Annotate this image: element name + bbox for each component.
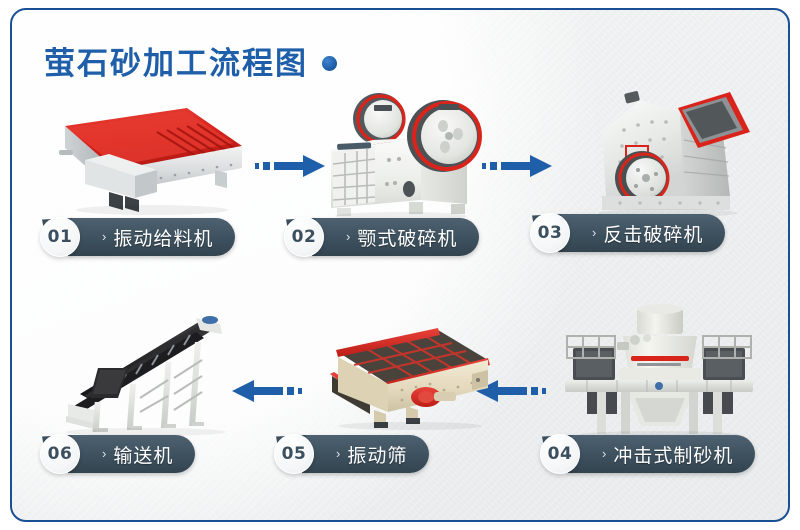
- step-number-badge-04: 04: [540, 434, 580, 474]
- step-number-badge-06: 06: [40, 434, 80, 474]
- flow-diagram-canvas: 萤石砂加工流程图: [0, 0, 800, 530]
- chevron-right-icon: ›: [336, 447, 340, 460]
- arrow-02-to-03: [482, 153, 554, 179]
- step-number-badge-02: 02: [284, 217, 324, 257]
- step-number-badge-01: 01: [40, 217, 80, 257]
- chevron-right-icon: ›: [602, 447, 606, 460]
- jaw-crusher-icon: [317, 72, 497, 222]
- sand-making-machine-icon: [557, 302, 762, 442]
- step-number-badge-05: 05: [274, 434, 314, 474]
- diagram-frame: 萤石砂加工流程图: [10, 8, 790, 522]
- step-05-vibrating-screen: [310, 302, 505, 432]
- chevron-right-icon: ›: [102, 447, 106, 460]
- step-label-pill-06[interactable]: › 输送机: [68, 435, 195, 473]
- chevron-right-icon: ›: [592, 226, 596, 239]
- step-label-01: 振动给料机: [113, 224, 213, 251]
- caption-step-02: 02 › 颚式破碎机: [284, 217, 479, 257]
- title-dot-icon: [322, 56, 337, 71]
- caption-step-01: 01 › 振动给料机: [40, 217, 235, 257]
- chevron-right-icon: ›: [102, 230, 106, 243]
- caption-step-05: 05 › 振动筛: [274, 434, 429, 474]
- step-label-pill-02[interactable]: › 颚式破碎机: [312, 218, 479, 256]
- step-label-pill-01[interactable]: › 振动给料机: [68, 218, 235, 256]
- belt-conveyor-icon: [50, 298, 250, 438]
- vibrating-feeder-icon: [37, 88, 252, 218]
- step-label-02: 颚式破碎机: [357, 224, 457, 251]
- step-label-pill-05[interactable]: › 振动筛: [302, 435, 429, 473]
- step-03-impact-crusher: [580, 70, 775, 222]
- caption-step-04: 04 › 冲击式制砂机: [540, 434, 755, 474]
- step-number-badge-03: 03: [530, 213, 570, 253]
- chevron-right-icon: ›: [346, 230, 350, 243]
- step-label-03: 反击破碎机: [603, 220, 703, 247]
- step-04-sand-making-machine: [557, 302, 762, 442]
- page-title: 萤石砂加工流程图: [44, 38, 308, 83]
- diagram-title: 萤石砂加工流程图: [44, 38, 337, 83]
- step-label-pill-04[interactable]: › 冲击式制砂机: [568, 435, 755, 473]
- impact-crusher-icon: [580, 70, 775, 222]
- vibrating-screen-icon: [310, 302, 505, 432]
- step-label-05: 振动筛: [347, 441, 407, 468]
- step-02-jaw-crusher: [317, 72, 497, 222]
- step-label-pill-03[interactable]: › 反击破碎机: [558, 214, 725, 252]
- step-label-04: 冲击式制砂机: [613, 441, 733, 468]
- step-label-06: 输送机: [113, 441, 173, 468]
- step-06-belt-conveyor: [50, 298, 250, 438]
- caption-step-06: 06 › 输送机: [40, 434, 195, 474]
- step-01-vibrating-feeder: [37, 88, 252, 218]
- caption-step-03: 03 › 反击破碎机: [530, 213, 725, 253]
